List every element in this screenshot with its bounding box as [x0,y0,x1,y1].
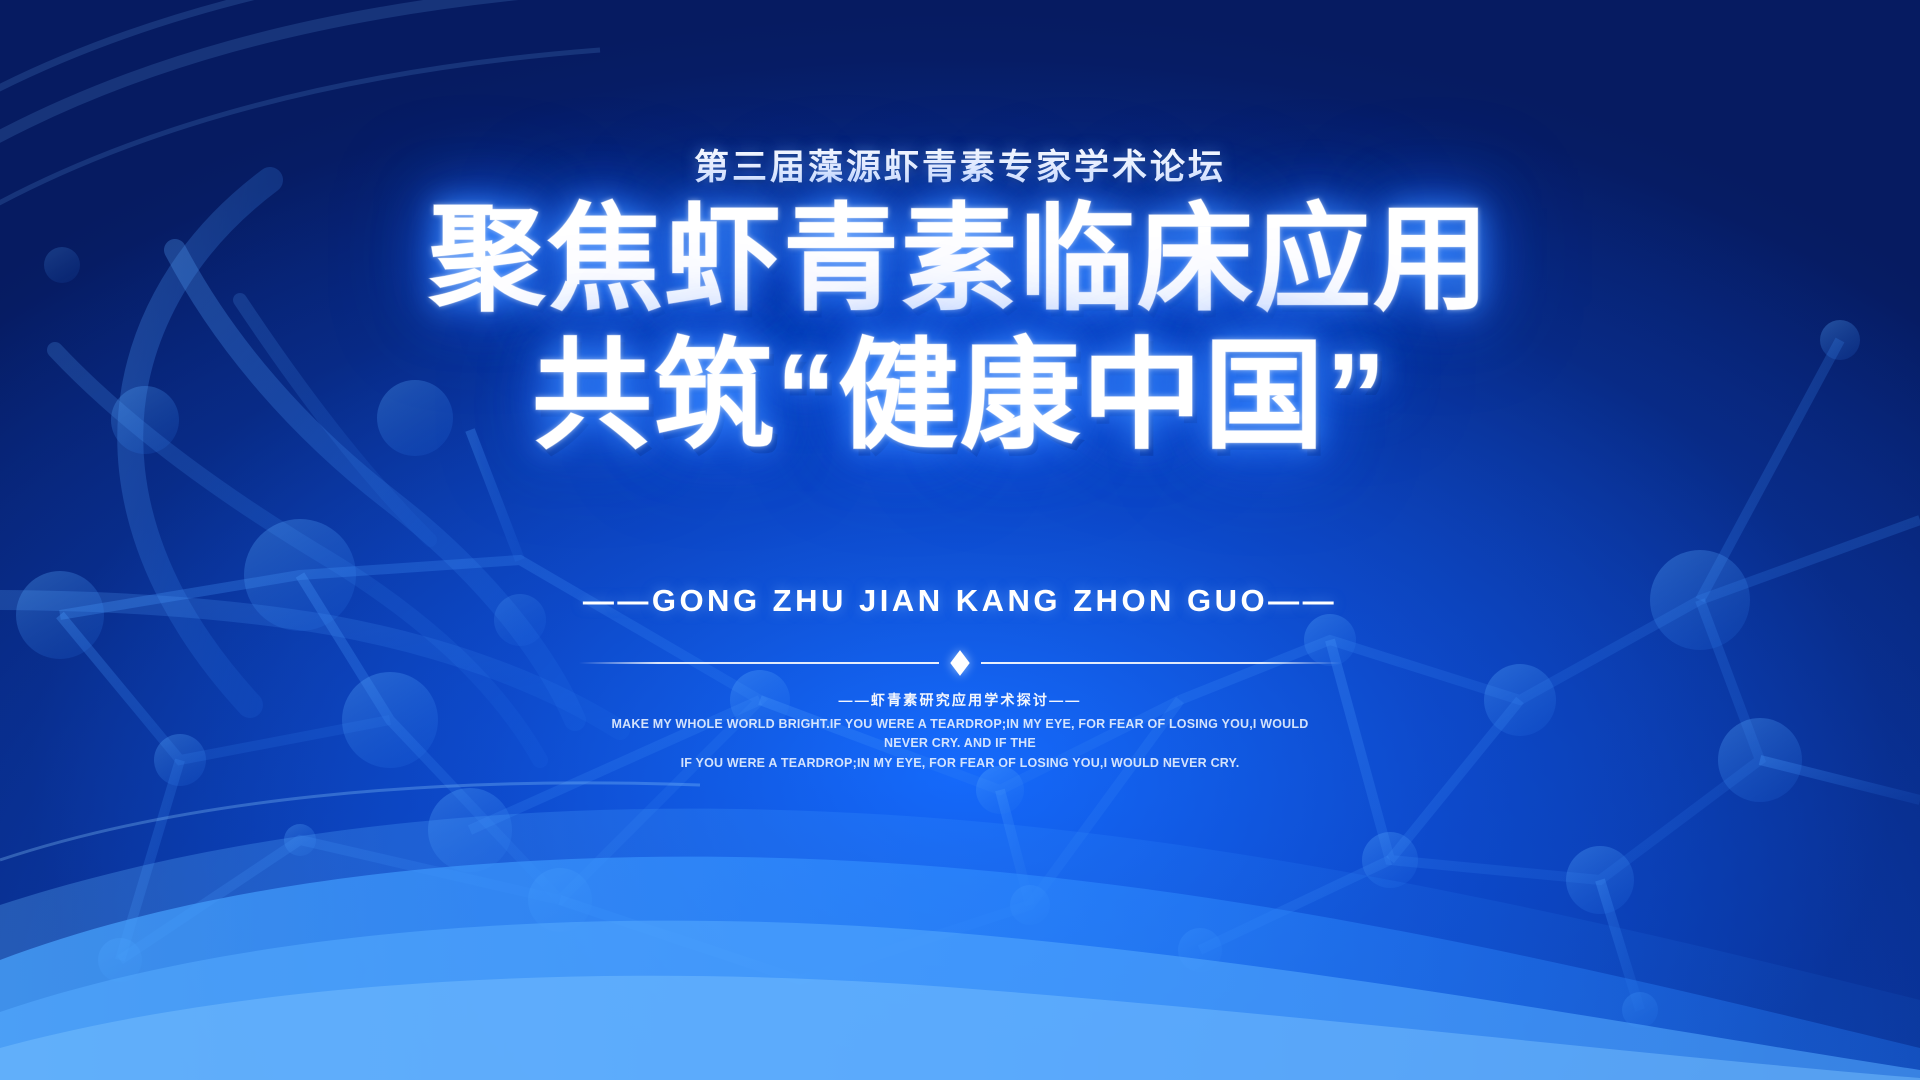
wave-bottom-graphic [0,783,1920,1080]
divider-line-right [981,662,1341,664]
footer-english-paragraph: MAKE MY WHOLE WORLD BRIGHT.IF YOU WERE A… [600,715,1320,773]
main-title: 聚焦虾青素临床应用 共筑“健康中国” [0,200,1920,459]
pinyin-subtitle: ——GONG ZHU JIAN KANG ZHON GUO—— [0,583,1920,619]
divider-line-left [579,662,939,664]
footer-english-line-2: IF YOU WERE A TEARDROP;IN MY EYE, FOR FE… [600,754,1320,773]
banner-stage: 第三届藻源虾青素专家学术论坛 聚焦虾青素临床应用 共筑“健康中国” ——GONG… [0,0,1920,1080]
footer-chinese-tagline: ——虾青素研究应用学术探讨—— [0,690,1920,710]
title-line-1: 聚焦虾青素临床应用 [0,200,1920,319]
event-subtitle: 第三届藻源虾青素专家学术论坛 [0,139,1920,190]
diamond-divider-icon [950,650,969,676]
footer-english-line-1: MAKE MY WHOLE WORLD BRIGHT.IF YOU WERE A… [600,715,1320,754]
divider [0,655,1920,671]
title-line-2: 共筑“健康中国” [0,335,1920,459]
footer-block: ——虾青素研究应用学术探讨—— MAKE MY WHOLE WORLD BRIG… [0,690,1920,773]
